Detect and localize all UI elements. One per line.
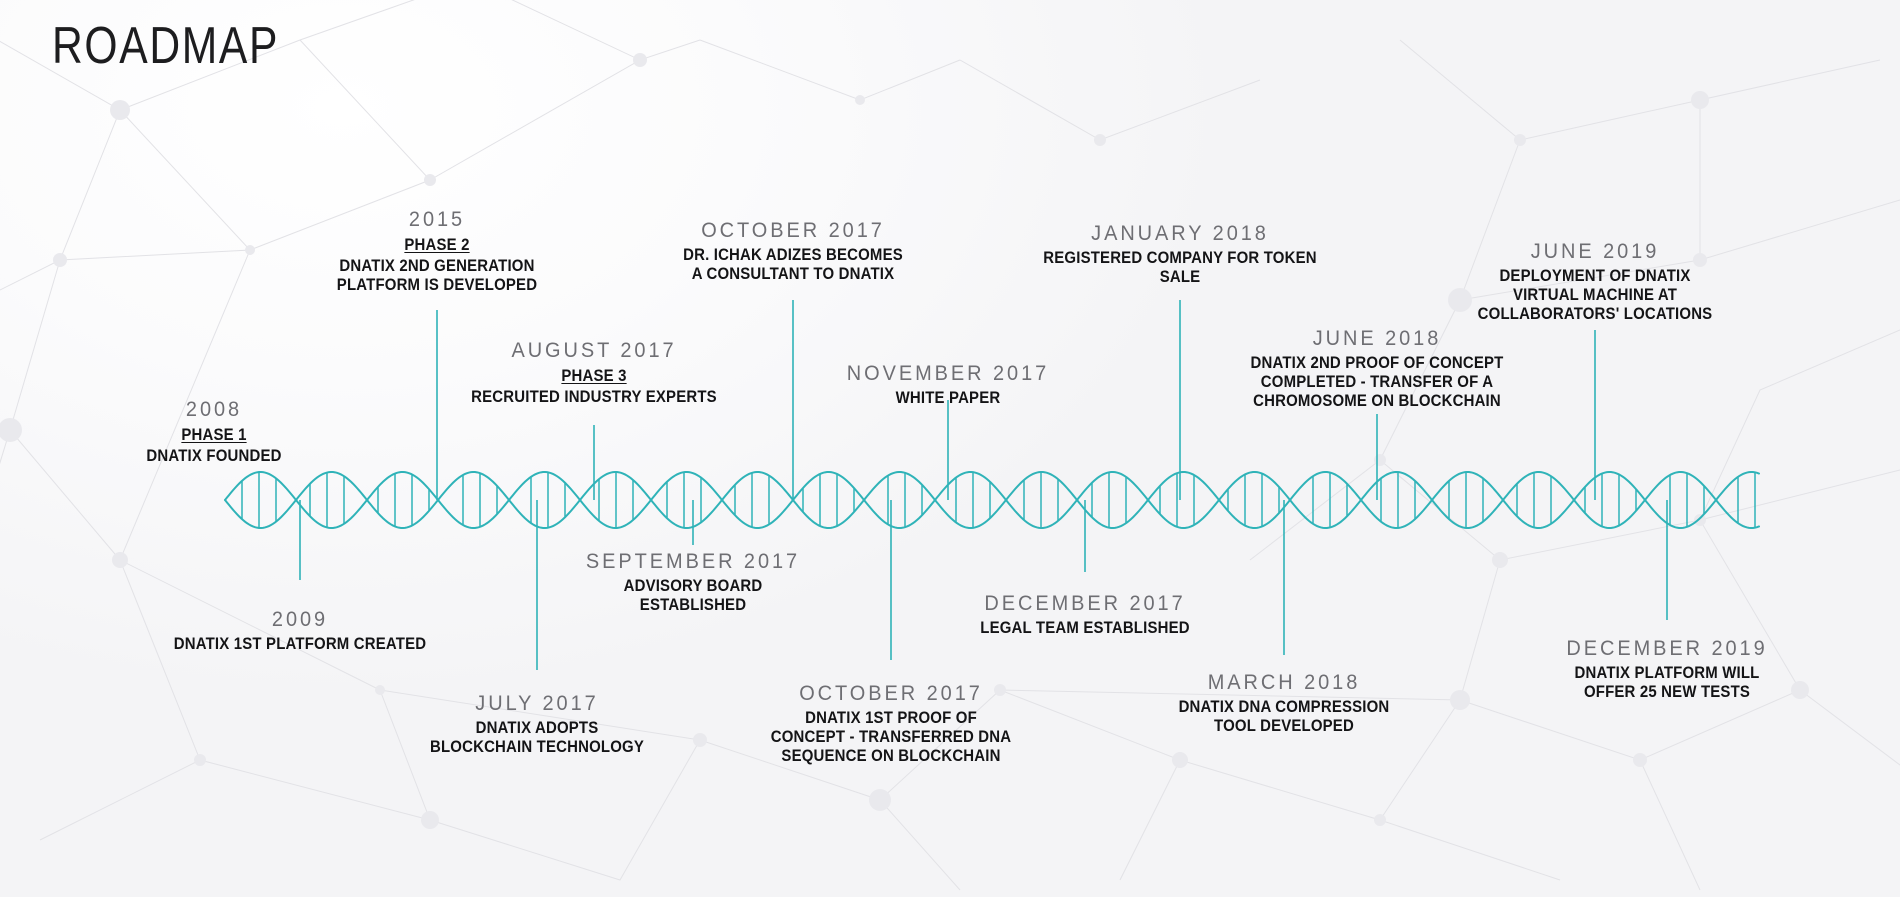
milestone-2017-10-proof-of-concept: OCTOBER 2017DNATIX 1ST PROOF OF CONCEPT … xyxy=(721,682,1061,765)
milestone-2017-09-advisory-board: SEPTEMBER 2017ADVISORY BOARD ESTABLISHED xyxy=(523,550,863,614)
milestone-year: JUNE 2019 xyxy=(1434,240,1757,264)
milestone-description: ADVISORY BOARD ESTABLISHED xyxy=(543,576,842,614)
milestone-description: DNATIX 2ND PROOF OF CONCEPT COMPLETED - … xyxy=(1227,353,1526,410)
milestone-2018-03-compression-tool: MARCH 2018DNATIX DNA COMPRESSION TOOL DE… xyxy=(1114,671,1454,735)
milestone-year: 2015 xyxy=(276,208,599,232)
milestone-phase: PHASE 3 xyxy=(444,366,743,385)
page-title: ROADMAP xyxy=(52,16,279,76)
roadmap-infographic: ROADMAP 2008PHASE 1DNATIX FOUNDED2009DNA… xyxy=(0,0,1900,897)
milestone-2017-11-white-paper: NOVEMBER 2017WHITE PAPER xyxy=(778,362,1118,407)
milestone-2017-12-legal-team: DECEMBER 2017LEGAL TEAM ESTABLISHED xyxy=(915,592,1255,637)
milestone-year: NOVEMBER 2017 xyxy=(787,362,1110,386)
milestone-description: DNATIX PLATFORM WILL OFFER 25 NEW TESTS xyxy=(1517,663,1816,701)
milestone-2018-06-second-proof: JUNE 2018DNATIX 2ND PROOF OF CONCEPT COM… xyxy=(1207,327,1547,410)
milestone-description: DNATIX 2ND GENERATION PLATFORM IS DEVELO… xyxy=(287,256,586,294)
milestone-year: DECEMBER 2019 xyxy=(1506,637,1829,661)
milestone-description: DNATIX 1ST PROOF OF CONCEPT - TRANSFERRE… xyxy=(741,708,1040,765)
milestone-year: JANUARY 2018 xyxy=(1019,222,1342,246)
milestone-year: 2008 xyxy=(53,398,376,422)
helix-strand-1 xyxy=(225,472,1759,528)
milestone-2017-08-phase-3: AUGUST 2017PHASE 3RECRUITED INDUSTRY EXP… xyxy=(424,339,764,406)
milestone-year: OCTOBER 2017 xyxy=(730,682,1053,706)
dna-strand xyxy=(225,472,1759,528)
milestone-phase: PHASE 1 xyxy=(64,425,363,444)
milestone-description: LEGAL TEAM ESTABLISHED xyxy=(935,618,1234,637)
milestone-2018-01-registered-company: JANUARY 2018REGISTERED COMPANY FOR TOKEN… xyxy=(1010,222,1350,286)
milestone-description: DEPLOYMENT OF DNATIX VIRTUAL MACHINE AT … xyxy=(1445,266,1744,323)
milestone-year: JUNE 2018 xyxy=(1216,327,1539,351)
milestone-description: REGISTERED COMPANY FOR TOKEN SALE xyxy=(1030,248,1329,286)
milestone-2017-10-consultant: OCTOBER 2017DR. ICHAK ADIZES BECOMES A C… xyxy=(623,219,963,283)
milestone-2019-12-new-tests: DECEMBER 2019DNATIX PLATFORM WILL OFFER … xyxy=(1497,637,1837,701)
helix-strand-2 xyxy=(225,472,1759,528)
milestone-2017-07-blockchain: JULY 2017DNATIX ADOPTS BLOCKCHAIN TECHNO… xyxy=(367,692,707,756)
milestone-description: WHITE PAPER xyxy=(798,388,1097,407)
milestone-year: 2009 xyxy=(139,608,462,632)
milestone-year: DECEMBER 2017 xyxy=(924,592,1247,616)
milestone-year: MARCH 2018 xyxy=(1123,671,1446,695)
milestone-year: OCTOBER 2017 xyxy=(632,219,955,243)
milestone-description: RECRUITED INDUSTRY EXPERTS xyxy=(444,387,743,406)
milestone-phase: PHASE 2 xyxy=(287,235,586,254)
milestone-description: DNATIX FOUNDED xyxy=(64,446,363,465)
milestone-description: DNATIX DNA COMPRESSION TOOL DEVELOPED xyxy=(1134,697,1433,735)
milestone-2019-06-virtual-machine: JUNE 2019DEPLOYMENT OF DNATIX VIRTUAL MA… xyxy=(1425,240,1765,323)
milestone-description: DNATIX 1ST PLATFORM CREATED xyxy=(150,634,449,653)
milestone-year: SEPTEMBER 2017 xyxy=(532,550,855,574)
milestone-2008-phase-1: 2008PHASE 1DNATIX FOUNDED xyxy=(44,398,384,465)
milestone-description: DNATIX ADOPTS BLOCKCHAIN TECHNOLOGY xyxy=(387,718,686,756)
milestone-description: DR. ICHAK ADIZES BECOMES A CONSULTANT TO… xyxy=(643,245,942,283)
milestone-2009-first-platform: 2009DNATIX 1ST PLATFORM CREATED xyxy=(130,608,470,653)
milestone-2015-phase-2: 2015PHASE 2DNATIX 2ND GENERATION PLATFOR… xyxy=(267,208,607,294)
milestone-year: JULY 2017 xyxy=(376,692,699,716)
milestone-year: AUGUST 2017 xyxy=(433,339,756,363)
